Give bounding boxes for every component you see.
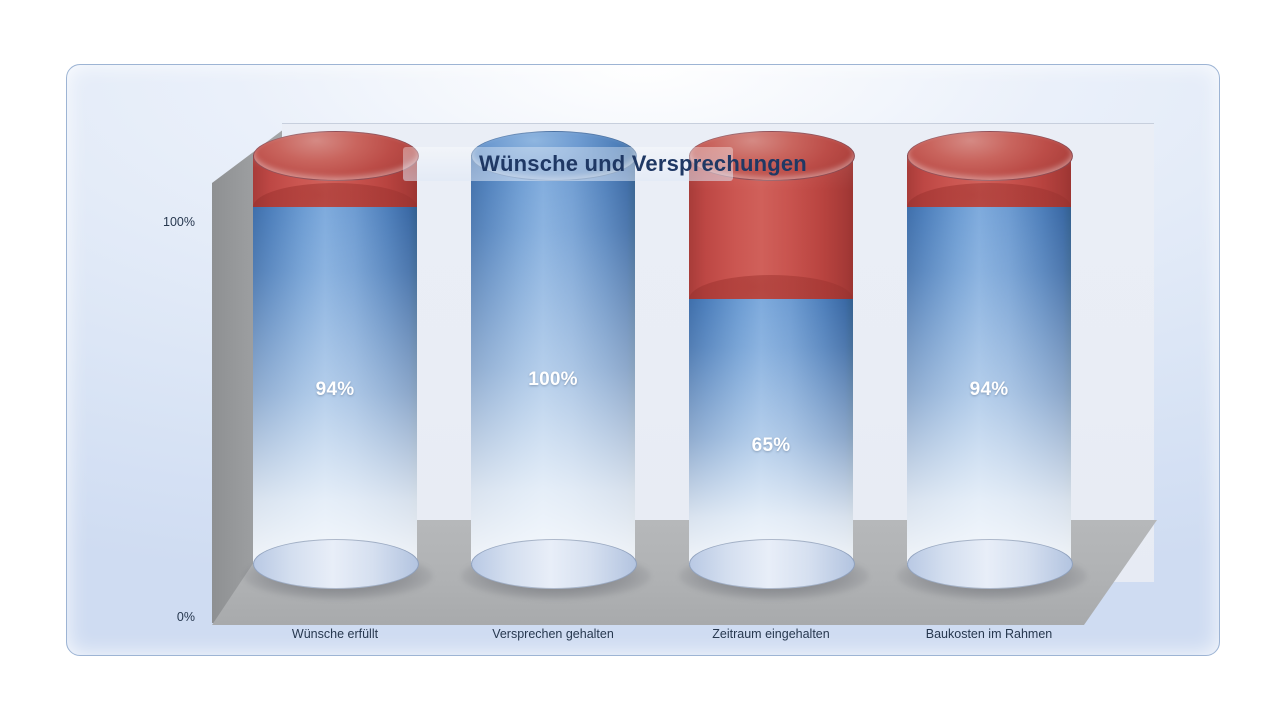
cylinder-2-segment-blue: [471, 155, 635, 565]
cylinder-3-base: [689, 539, 855, 589]
cylinder-2-base: [471, 539, 637, 589]
cylinder-1-value-label: 94%: [253, 379, 417, 401]
x-axis-category-4: Baukosten im Rahmen: [889, 627, 1089, 641]
x-axis-category-1: Wünsche erfüllt: [235, 627, 435, 641]
chart-frame: 94% 100%: [66, 64, 1220, 656]
x-axis-category-3: Zeitraum eingehalten: [671, 627, 871, 641]
cylinder-bar-2[interactable]: 100%: [471, 155, 635, 593]
cylinder-1-base: [253, 539, 419, 589]
cylinder-bar-4[interactable]: 94%: [907, 155, 1071, 593]
cylinder-4-value-label: 94%: [907, 379, 1071, 401]
chart-screenshot: 94% 100%: [0, 0, 1280, 720]
cylinder-bar-3[interactable]: 65%: [689, 155, 853, 593]
cylinder-3-value-label: 65%: [689, 435, 853, 457]
y-axis-tick-100: 100%: [111, 215, 195, 229]
chart-title: Wünsche und Versprechungen: [67, 151, 1219, 177]
x-axis-category-2: Versprechen gehalten: [453, 627, 653, 641]
cylinder-4-base: [907, 539, 1073, 589]
cylinder-3-segment-blue: [689, 299, 853, 565]
cylinder-2-value-label: 100%: [471, 369, 635, 391]
y-axis-tick-0: 0%: [111, 610, 195, 624]
cylinder-bar-1[interactable]: 94%: [253, 155, 417, 593]
